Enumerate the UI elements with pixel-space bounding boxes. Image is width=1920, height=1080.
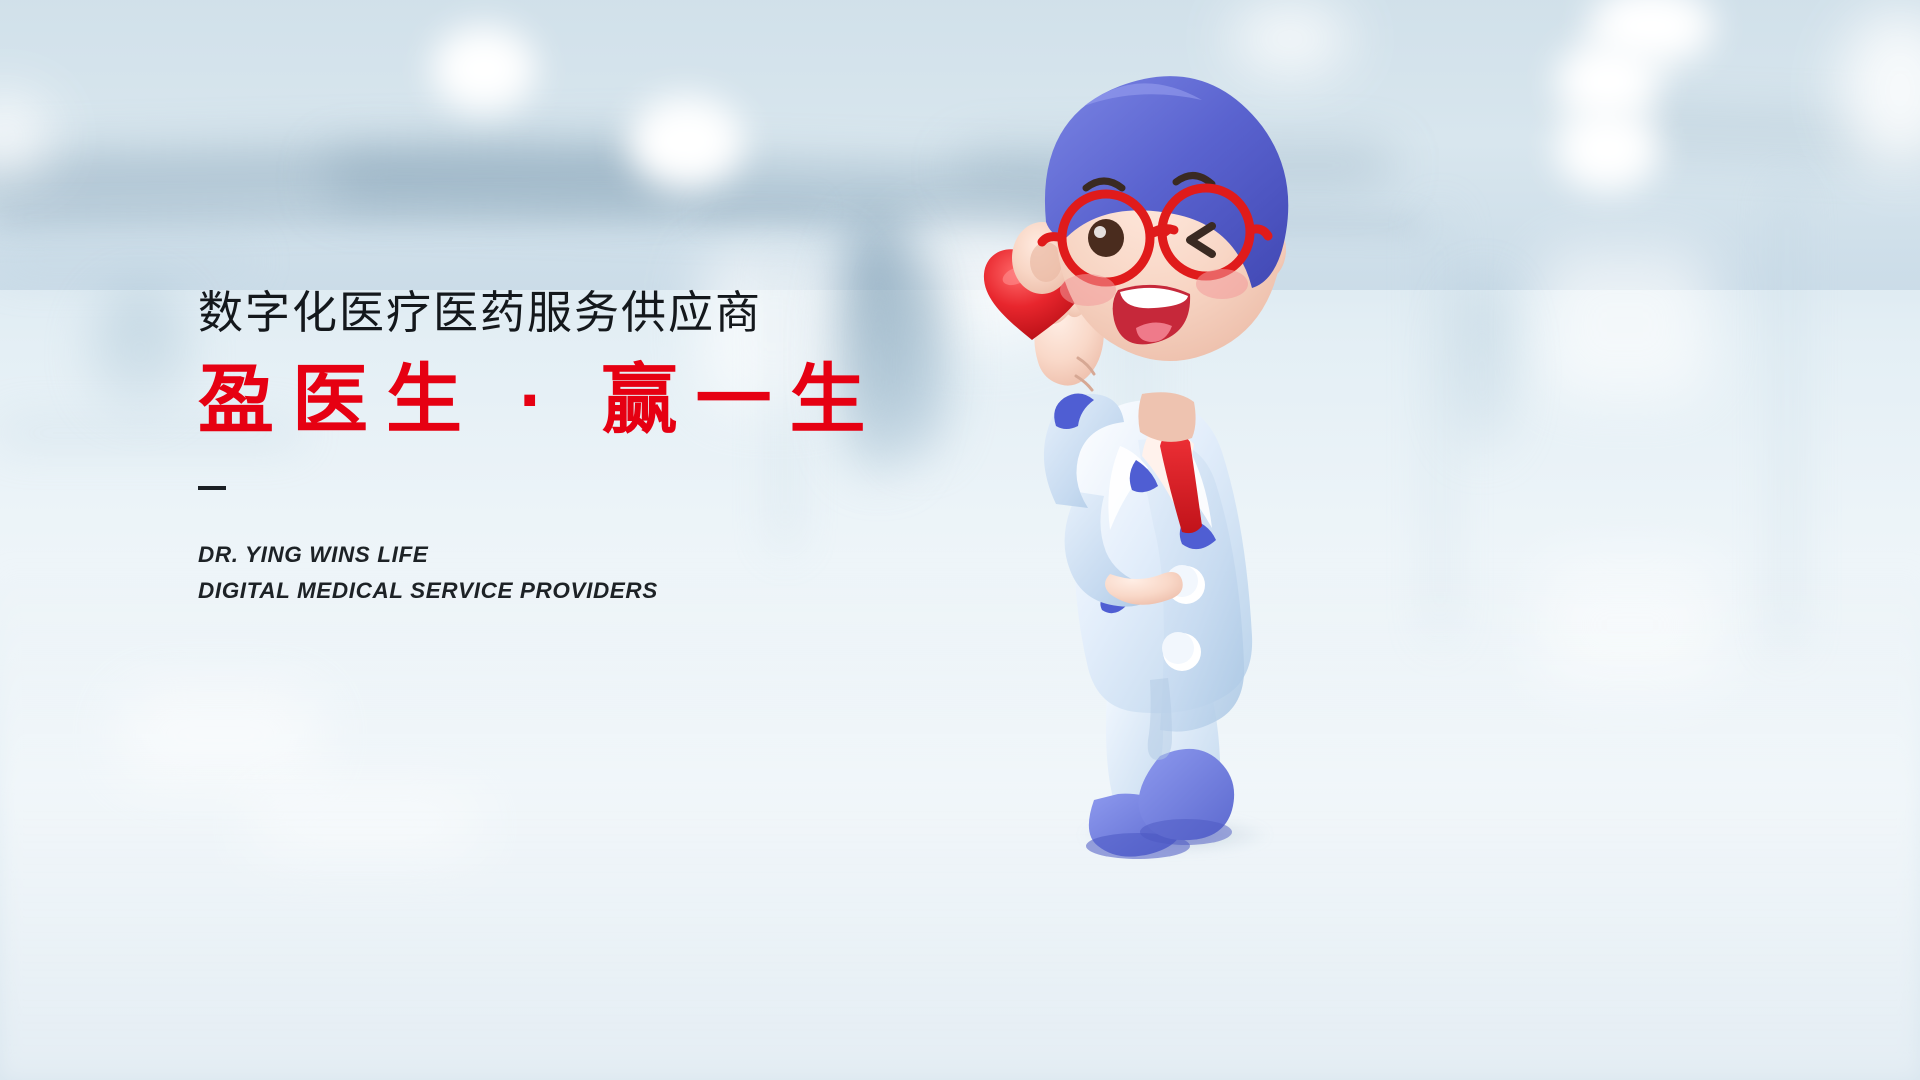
hero-copy: 数字化医疗医药服务供应商 盈医生 · 赢一生 DR. YING WINS LIF… bbox=[198, 288, 978, 609]
counter-edge bbox=[0, 250, 250, 272]
character-neck bbox=[1138, 392, 1195, 442]
character-eye-open bbox=[1088, 219, 1124, 257]
blush-left bbox=[1060, 274, 1116, 306]
shoe-front-sole bbox=[1140, 819, 1232, 845]
doctor-mascot-illustration bbox=[960, 40, 1390, 870]
hero-banner: 数字化医疗医药服务供应商 盈医生 · 赢一生 DR. YING WINS LIF… bbox=[0, 0, 1920, 1080]
ceiling-light bbox=[628, 96, 744, 188]
hero-english-line-1: DR. YING WINS LIFE bbox=[198, 537, 978, 573]
hero-divider bbox=[198, 486, 226, 490]
window-glow bbox=[1540, 250, 1710, 400]
ceiling-light bbox=[1556, 106, 1660, 192]
hero-subheadline: 数字化医疗医药服务供应商 bbox=[198, 288, 978, 338]
person-silhouette bbox=[1452, 280, 1512, 450]
person-silhouette bbox=[92, 288, 188, 408]
hero-headline: 盈医生 · 赢一生 bbox=[198, 360, 978, 442]
coat-button-bottom-inner bbox=[1162, 632, 1194, 664]
eye-glint bbox=[1094, 226, 1106, 238]
blush-right bbox=[1196, 269, 1248, 299]
ceiling-light bbox=[432, 26, 536, 112]
hero-english-line-2: DIGITAL MEDICAL SERVICE PROVIDERS bbox=[198, 573, 978, 609]
ear-inner bbox=[1030, 242, 1062, 282]
coat-split bbox=[1148, 678, 1172, 760]
